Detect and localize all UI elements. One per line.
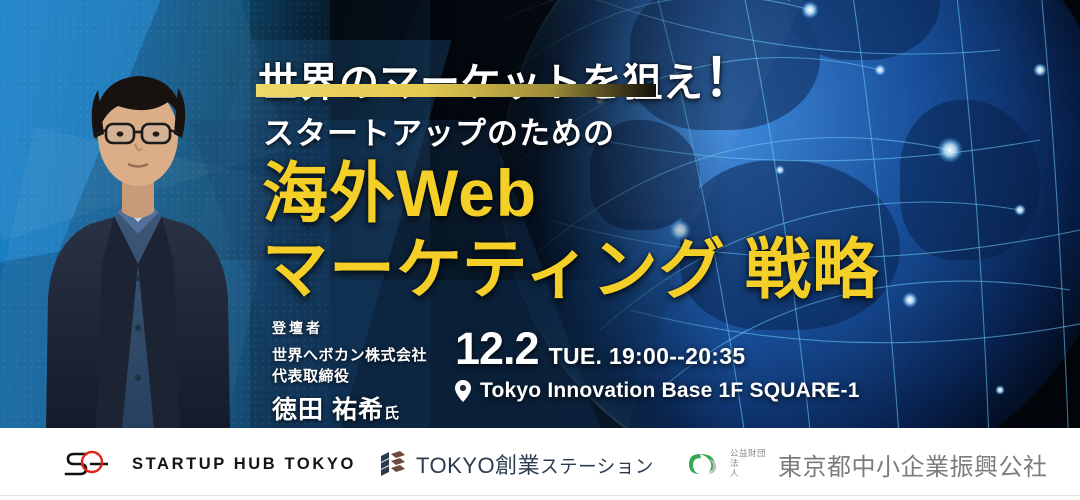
logo-tokyo-sme-support[interactable]: 公益財団 法 人 東京都中小企業振興公社 [686, 447, 1048, 482]
event-time: TUE. 19:00--20:35 [549, 343, 746, 370]
event-banner: 世界のマーケットを狙え！ スタートアップのための 海外Web マーケティング 戦… [0, 0, 1080, 500]
logo-tokyo-sogyo-station[interactable]: TOKYO創業ステーション [378, 448, 654, 480]
kicker-headline: 世界のマーケットを狙え！ [258, 36, 756, 111]
tokyo-sme-support-label: 東京都中小企業振興公社 [778, 447, 1048, 482]
tcs-kanji: 創業 [495, 453, 540, 478]
event-venue-row: Tokyo Innovation Base 1F SQUARE-1 [455, 379, 860, 403]
map-pin-icon [455, 380, 471, 402]
tsk-small-line2: 法 人 [730, 459, 768, 479]
gold-underline-bar [256, 84, 656, 97]
speaker-name: 徳田 祐希氏 [272, 390, 427, 426]
speaker-info: 登壇者 世界へボカン株式会社 代表取締役 徳田 祐希氏 [272, 318, 427, 426]
speaker-photo [18, 28, 258, 428]
event-details: 12.2 TUE. 19:00--20:35 Tokyo Innovation … [455, 326, 860, 403]
event-date: 12.2 [455, 326, 539, 371]
title-line-2: マーケティング 戦略 [262, 236, 879, 302]
title-line-1: 海外Web [262, 160, 537, 226]
kicker-exclamation: ！ [704, 50, 757, 108]
speaker-portrait-illustration [18, 28, 258, 428]
speaker-name-suffix: 氏 [384, 405, 400, 422]
sponsor-footer: STARTUP HUB TOKYO TOKYO創業ステーション 公益財団 法 人 [0, 428, 1080, 500]
sub-kicker: スタートアップのための [263, 108, 615, 153]
logo-startup-hub-tokyo[interactable]: STARTUP HUB TOKYO [62, 449, 356, 479]
tokyo-sogyo-station-label: TOKYO創業ステーション [416, 448, 654, 480]
speaker-label: 登壇者 [272, 318, 427, 338]
s-circle-mark-icon [62, 449, 118, 479]
tcs-latin: TOKYO [416, 453, 495, 478]
event-venue: Tokyo Innovation Base 1F SQUARE-1 [480, 379, 860, 403]
layered-blocks-mark-icon [378, 449, 408, 479]
tsk-koeki-zaidan-text: 公益財団 法 人 [730, 449, 768, 478]
event-date-row: 12.2 TUE. 19:00--20:35 [455, 326, 860, 371]
tsk-small-line1: 公益財団 [730, 448, 766, 458]
kicker-text: 世界のマーケットを狙え [258, 61, 704, 105]
tcs-kana: ステーション [540, 456, 654, 477]
speaker-company: 世界へボカン株式会社 [272, 344, 427, 365]
green-swoosh-mark-icon [686, 451, 720, 477]
speaker-role: 代表取締役 [272, 365, 427, 386]
speaker-name-text: 徳田 祐希 [272, 396, 384, 424]
startup-hub-tokyo-label: STARTUP HUB TOKYO [132, 455, 356, 474]
